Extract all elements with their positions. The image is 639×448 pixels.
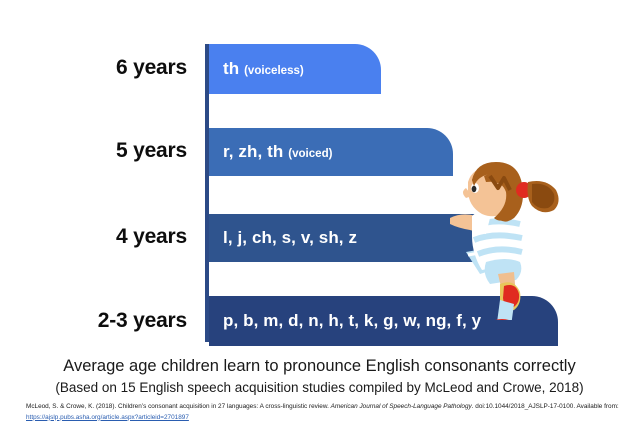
bar-text-2-3-years: p, b, m, d, n, h, t, k, g, w, ng, f, y: [223, 311, 481, 331]
citation-part-2: . doi:10.1044/2018_AJSLP-17-0100. Availa…: [472, 403, 619, 410]
eye-white: [471, 183, 479, 193]
bar-5-years[interactable]: r, zh, th (voiced): [209, 128, 453, 176]
bar-6-years[interactable]: th (voiceless): [209, 44, 381, 94]
bar-text-5-years: r, zh, th (voiced): [223, 142, 333, 162]
hair-highlight: [490, 176, 510, 190]
ponytail-shade: [532, 184, 554, 209]
bar-label-6-years: 6 years: [0, 56, 187, 80]
bar-main-text-2-3-years: p, b, m, d, n, h, t, k, g, w, ng, f, y: [223, 311, 481, 330]
caption-subtitle: (Based on 15 English speech acquisition …: [0, 379, 639, 397]
hair-tie: [516, 182, 532, 198]
citation-journal: American Journal of Speech-Language Path…: [331, 403, 472, 410]
bar-main-text-6-years: th: [223, 59, 239, 78]
bar-4-years[interactable]: l, j, ch, s, v, sh, z: [209, 214, 499, 262]
bar-row-6-years: 6 years th (voiceless): [0, 44, 639, 94]
eye-pupil: [472, 186, 477, 192]
bar-main-text-4-years: l, j, ch, s, v, sh, z: [223, 228, 357, 247]
infographic-root: 6 years th (voiceless) 5 years r, zh, th…: [0, 0, 639, 448]
consonant-acquisition-chart: 6 years th (voiceless) 5 years r, zh, th…: [0, 0, 639, 352]
bar-row-2-3-years: 2-3 years p, b, m, d, n, h, t, k, g, w, …: [0, 296, 639, 346]
bar-label-5-years: 5 years: [0, 139, 187, 163]
nose: [463, 188, 472, 198]
caption-title: Average age children learn to pronounce …: [0, 356, 639, 377]
bar-2-3-years[interactable]: p, b, m, d, n, h, t, k, g, w, ng, f, y: [209, 296, 558, 346]
ponytail: [528, 181, 559, 212]
bar-sub-text-5-years: (voiced): [288, 148, 332, 160]
bar-main-text-5-years: r, zh, th: [223, 142, 283, 161]
bar-text-4-years: l, j, ch, s, v, sh, z: [223, 228, 357, 248]
bar-sub-text-6-years: (voiceless): [244, 65, 304, 77]
citation-link[interactable]: https://ajslp.pubs.asha.org/article.aspx…: [26, 414, 189, 421]
caption-block: Average age children learn to pronounce …: [0, 356, 639, 396]
bar-row-5-years: 5 years r, zh, th (voiced): [0, 128, 639, 176]
citation-text: McLeod, S. & Crowe, K. (2018). Children’…: [26, 402, 621, 423]
shorts: [485, 259, 522, 284]
bar-label-2-3-years: 2-3 years: [0, 309, 187, 333]
bar-row-4-years: 4 years l, j, ch, s, v, sh, z: [0, 214, 639, 262]
bar-text-6-years: th (voiceless): [223, 59, 304, 79]
bar-label-4-years: 4 years: [0, 225, 187, 249]
citation-part-1: McLeod, S. & Crowe, K. (2018). Children’…: [26, 403, 331, 410]
